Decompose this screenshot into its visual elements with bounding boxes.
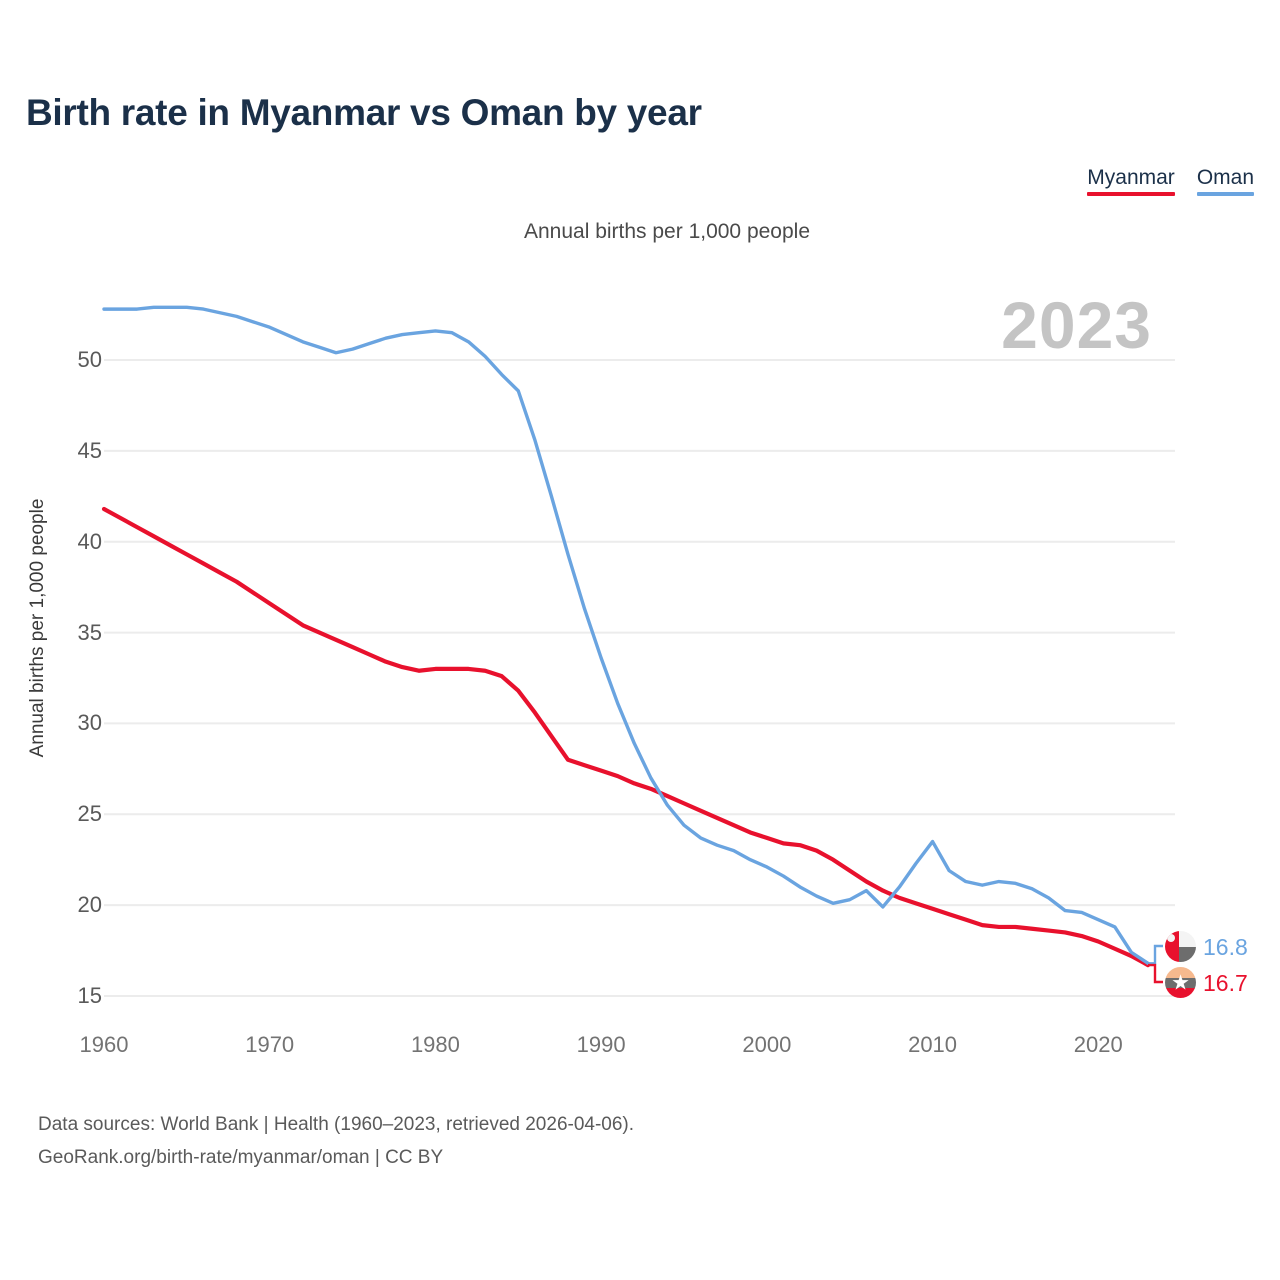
end-label-oman: 16.8 [1203,934,1248,961]
oman-flag-white-band [1179,931,1196,947]
end-label-myanmar: 16.7 [1203,970,1248,997]
chart-plot-area [0,0,1280,1280]
footer-line-url: GeoRank.org/birth-rate/myanmar/oman | CC… [38,1141,634,1174]
myanmar-flag-icon: ★ [1165,967,1196,998]
connector-oman [1148,946,1163,963]
connector-myanmar [1148,965,1163,982]
oman-flag-gray-band [1179,947,1196,963]
chart-page: Birth rate in Myanmar vs Oman by year My… [0,0,1280,1280]
series-line-oman [104,307,1148,963]
footer-credits: Data sources: World Bank | Health (1960–… [38,1108,634,1174]
oman-flag-icon [1165,931,1196,962]
footer-line-sources: Data sources: World Bank | Health (1960–… [38,1108,634,1141]
series-line-myanmar [104,509,1148,965]
myanmar-flag-star: ★ [1171,973,1190,994]
